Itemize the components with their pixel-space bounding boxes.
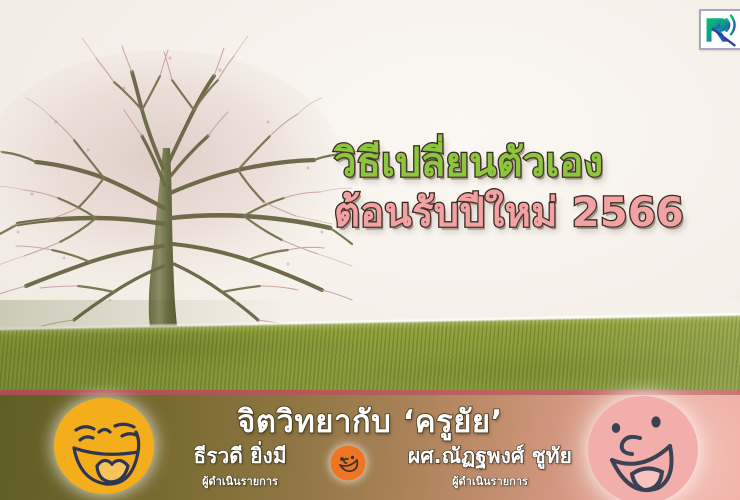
- show-title: จิตวิทยากับ ‘ครูยัย’: [0, 396, 740, 446]
- host-left-role: ผู้ดำเนินรายการ: [150, 472, 330, 490]
- host-left-name: ธีรวดี ยิ่งมี: [150, 440, 330, 473]
- orange-smiley-face-icon: [329, 444, 367, 482]
- broadcast-station-logo[interactable]: [699, 9, 740, 50]
- host-left: ธีรวดี ยิ่งมี ผู้ดำเนินรายการ: [150, 440, 330, 490]
- host-right-role: ผู้ดำเนินรายการ: [370, 472, 610, 490]
- logo-dot: [712, 21, 720, 29]
- headline-line-1: วิธีเปลี่ยนตัวเอง: [334, 143, 714, 185]
- poster-canvas: วิธีเปลี่ยนตัวเอง ต้อนรับปีใหม่ 2566: [0, 0, 740, 500]
- host-right: ผศ.ณัฏฐพงศ์ ชูทัย ผู้ดำเนินรายการ: [370, 440, 610, 490]
- poster-headline: วิธีเปลี่ยนตัวเอง ต้อนรับปีใหม่ 2566: [334, 143, 714, 234]
- headline-line-2: ต้อนรับปีใหม่ 2566: [334, 193, 714, 235]
- bare-tree-image: [0, 18, 352, 348]
- host-right-name: ผศ.ณัฏฐพงศ์ ชูทัย: [370, 440, 610, 473]
- grass-field: [0, 300, 740, 390]
